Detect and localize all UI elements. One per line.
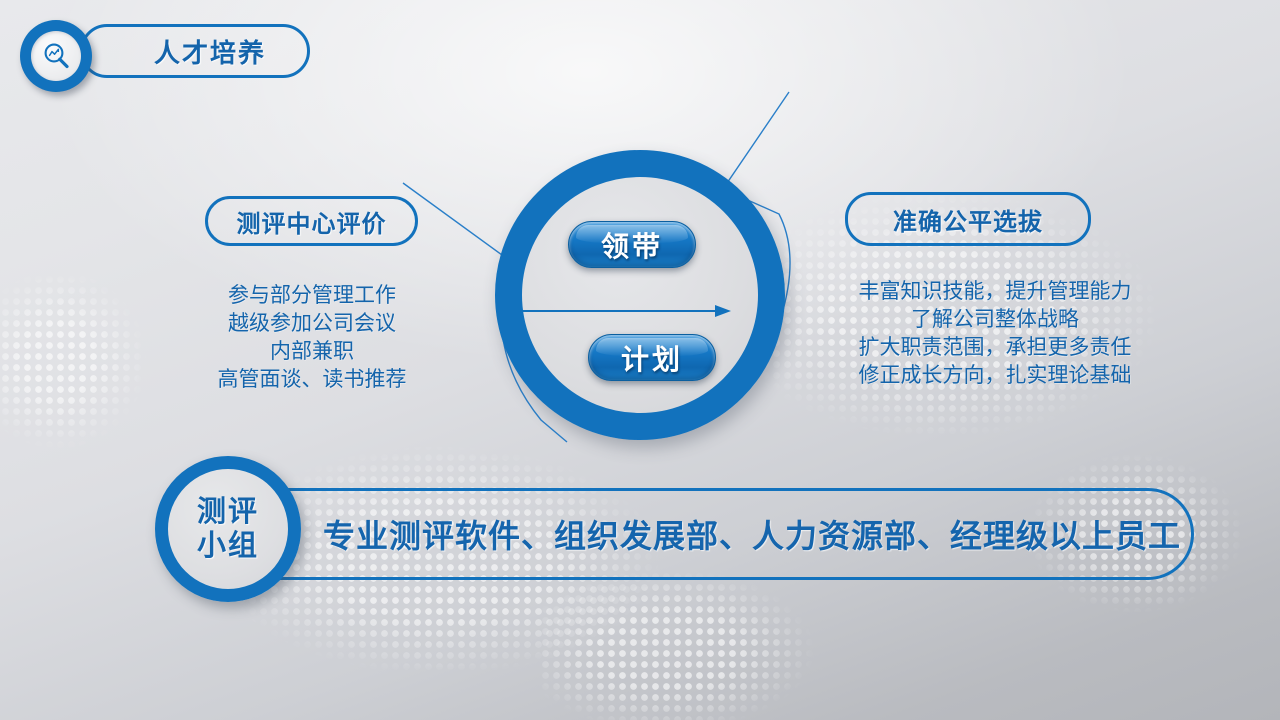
center-ring: [495, 150, 785, 440]
left-block-line: 高管面谈、读书推荐: [186, 366, 438, 394]
right-block-line: 修正成长方向，扎实理论基础: [825, 362, 1165, 390]
header-badge[interactable]: 人才培养: [18, 20, 308, 82]
right-block-title-pill[interactable]: 准确公平选拔: [845, 192, 1091, 246]
world-map-dots-texture: [540, 560, 960, 720]
left-block-body: 参与部分管理工作 越级参加公司会议 内部兼职 高管面谈、读书推荐: [186, 282, 438, 394]
right-block-line: 了解公司整体战略: [825, 306, 1165, 334]
slide-canvas: 人才培养 领带 计划 测评中心评价 参与部分管理工作 越级参加公司会议: [0, 0, 1280, 720]
left-block-title: 测评中心评价: [237, 204, 387, 239]
bottom-badge-line1: 测评: [197, 495, 259, 529]
left-block-line: 参与部分管理工作: [186, 282, 438, 310]
header-icon-inner: [31, 31, 81, 81]
right-block-body: 丰富知识技能，提升管理能力 了解公司整体战略 扩大职责范围，承担更多责任 修正成…: [825, 278, 1165, 390]
left-block-line: 内部兼职: [186, 338, 438, 366]
page-title: 人才培养: [124, 33, 266, 70]
bottom-bar-text: 专业测评软件、组织发展部、人力资源部、经理级以上员工: [235, 511, 1181, 557]
chart-magnifier-icon: [40, 40, 72, 72]
left-block-title-pill[interactable]: 测评中心评价: [205, 196, 418, 246]
right-block-line: 丰富知识技能，提升管理能力: [825, 278, 1165, 306]
left-block-line: 越级参加公司会议: [186, 310, 438, 338]
center-pill-tie[interactable]: 领带: [568, 221, 696, 268]
bottom-badge-line2: 小组: [197, 529, 259, 563]
header-icon-circle[interactable]: [20, 20, 92, 92]
center-pill-plan-label: 计划: [621, 338, 683, 378]
right-block-title: 准确公平选拔: [893, 202, 1043, 237]
bottom-bar[interactable]: 专业测评软件、组织发展部、人力资源部、经理级以上员工: [232, 488, 1194, 580]
center-pill-tie-label: 领带: [601, 225, 663, 265]
bottom-badge-circle[interactable]: 测评 小组: [155, 456, 301, 602]
header-title-pill: 人才培养: [80, 24, 310, 78]
center-pill-plan[interactable]: 计划: [588, 334, 716, 381]
right-block-line: 扩大职责范围，承担更多责任: [825, 334, 1165, 362]
